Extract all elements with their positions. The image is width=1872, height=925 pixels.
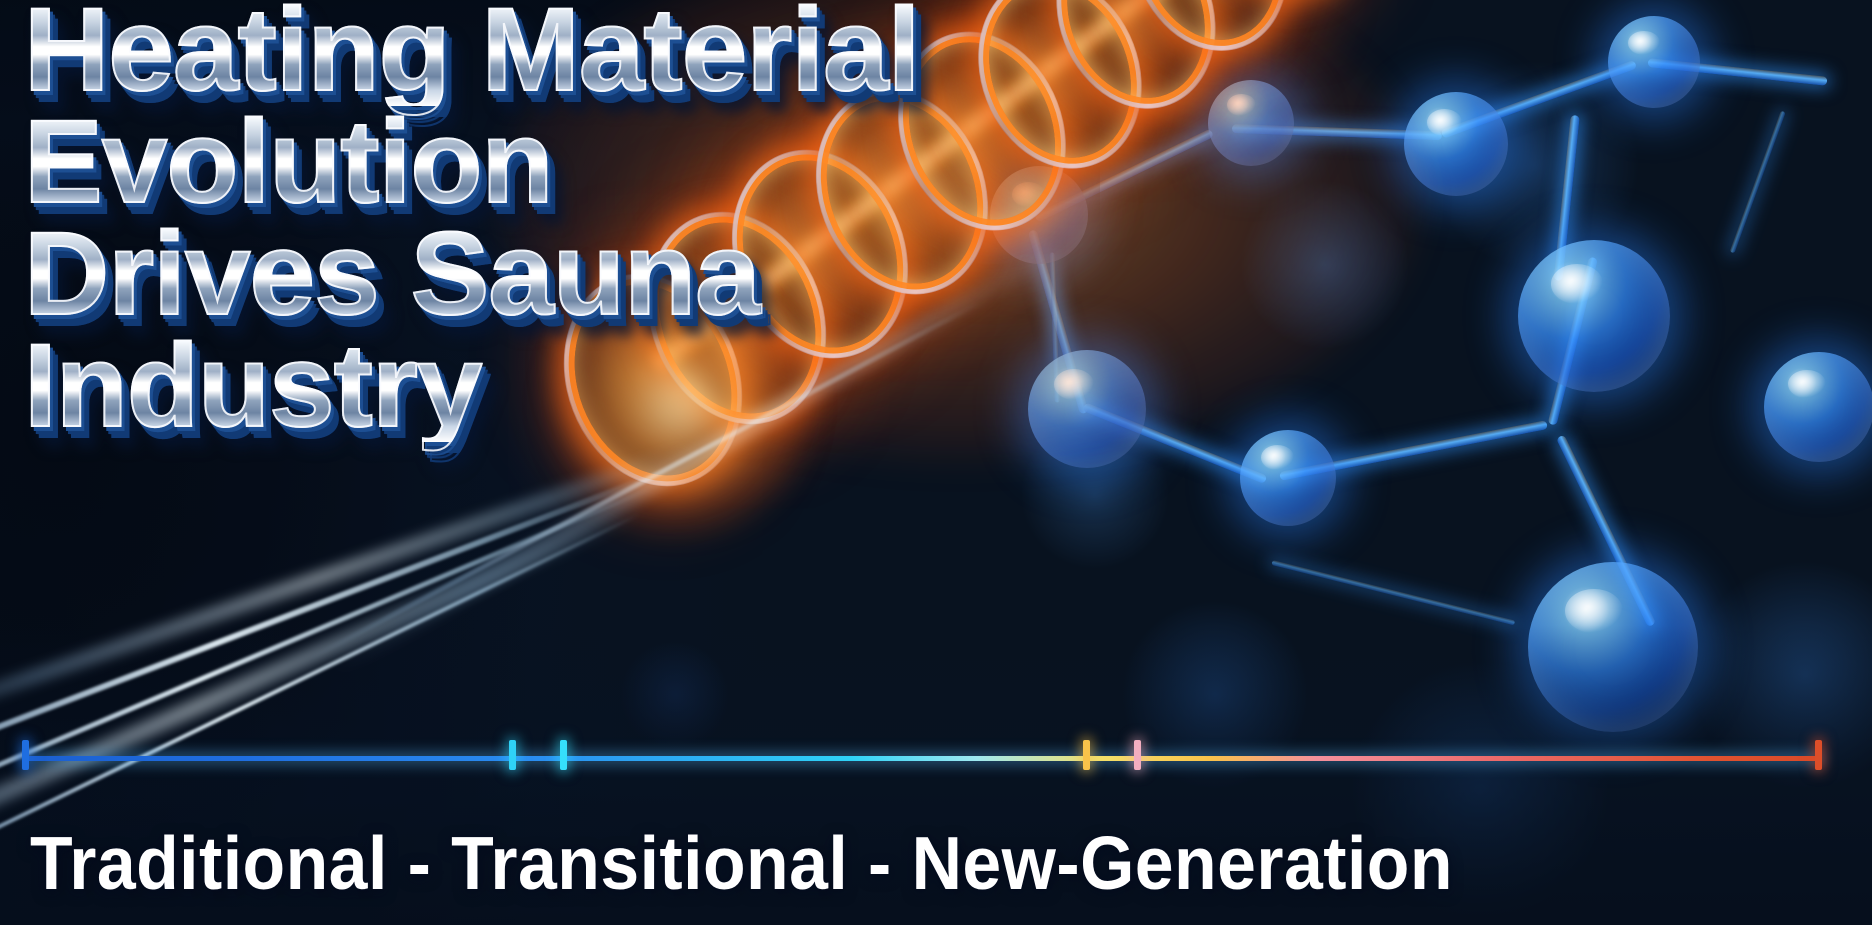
title-line-4: Industry Industry [24, 330, 1114, 442]
tick-transitional[interactable] [1083, 740, 1090, 770]
title-line-3-text: Drives Sauna [24, 218, 760, 330]
tick-start[interactable] [22, 740, 29, 770]
tick-traditional-a[interactable] [509, 740, 516, 770]
hero-banner: Heating Material Heating Material Evolut… [0, 0, 1872, 925]
timeline-track [25, 756, 1820, 761]
title-line-1-text: Heating Material [24, 0, 919, 106]
page-title: Heating Material Heating Material Evolut… [24, 0, 1114, 442]
title-line-2-text: Evolution [24, 106, 553, 218]
title-line-2: Evolution Evolution [24, 106, 1114, 218]
title-line-3: Drives Sauna Drives Sauna [24, 218, 1114, 330]
tick-traditional-b[interactable] [560, 740, 567, 770]
material-evolution-timeline[interactable] [0, 752, 1872, 764]
title-line-1: Heating Material Heating Material [24, 0, 1114, 106]
tick-end[interactable] [1815, 740, 1822, 770]
banner-subtitle: Traditional - Transitional - New-Generat… [30, 820, 1453, 906]
tick-newgen[interactable] [1134, 740, 1141, 770]
title-line-4-text: Industry [24, 330, 482, 442]
